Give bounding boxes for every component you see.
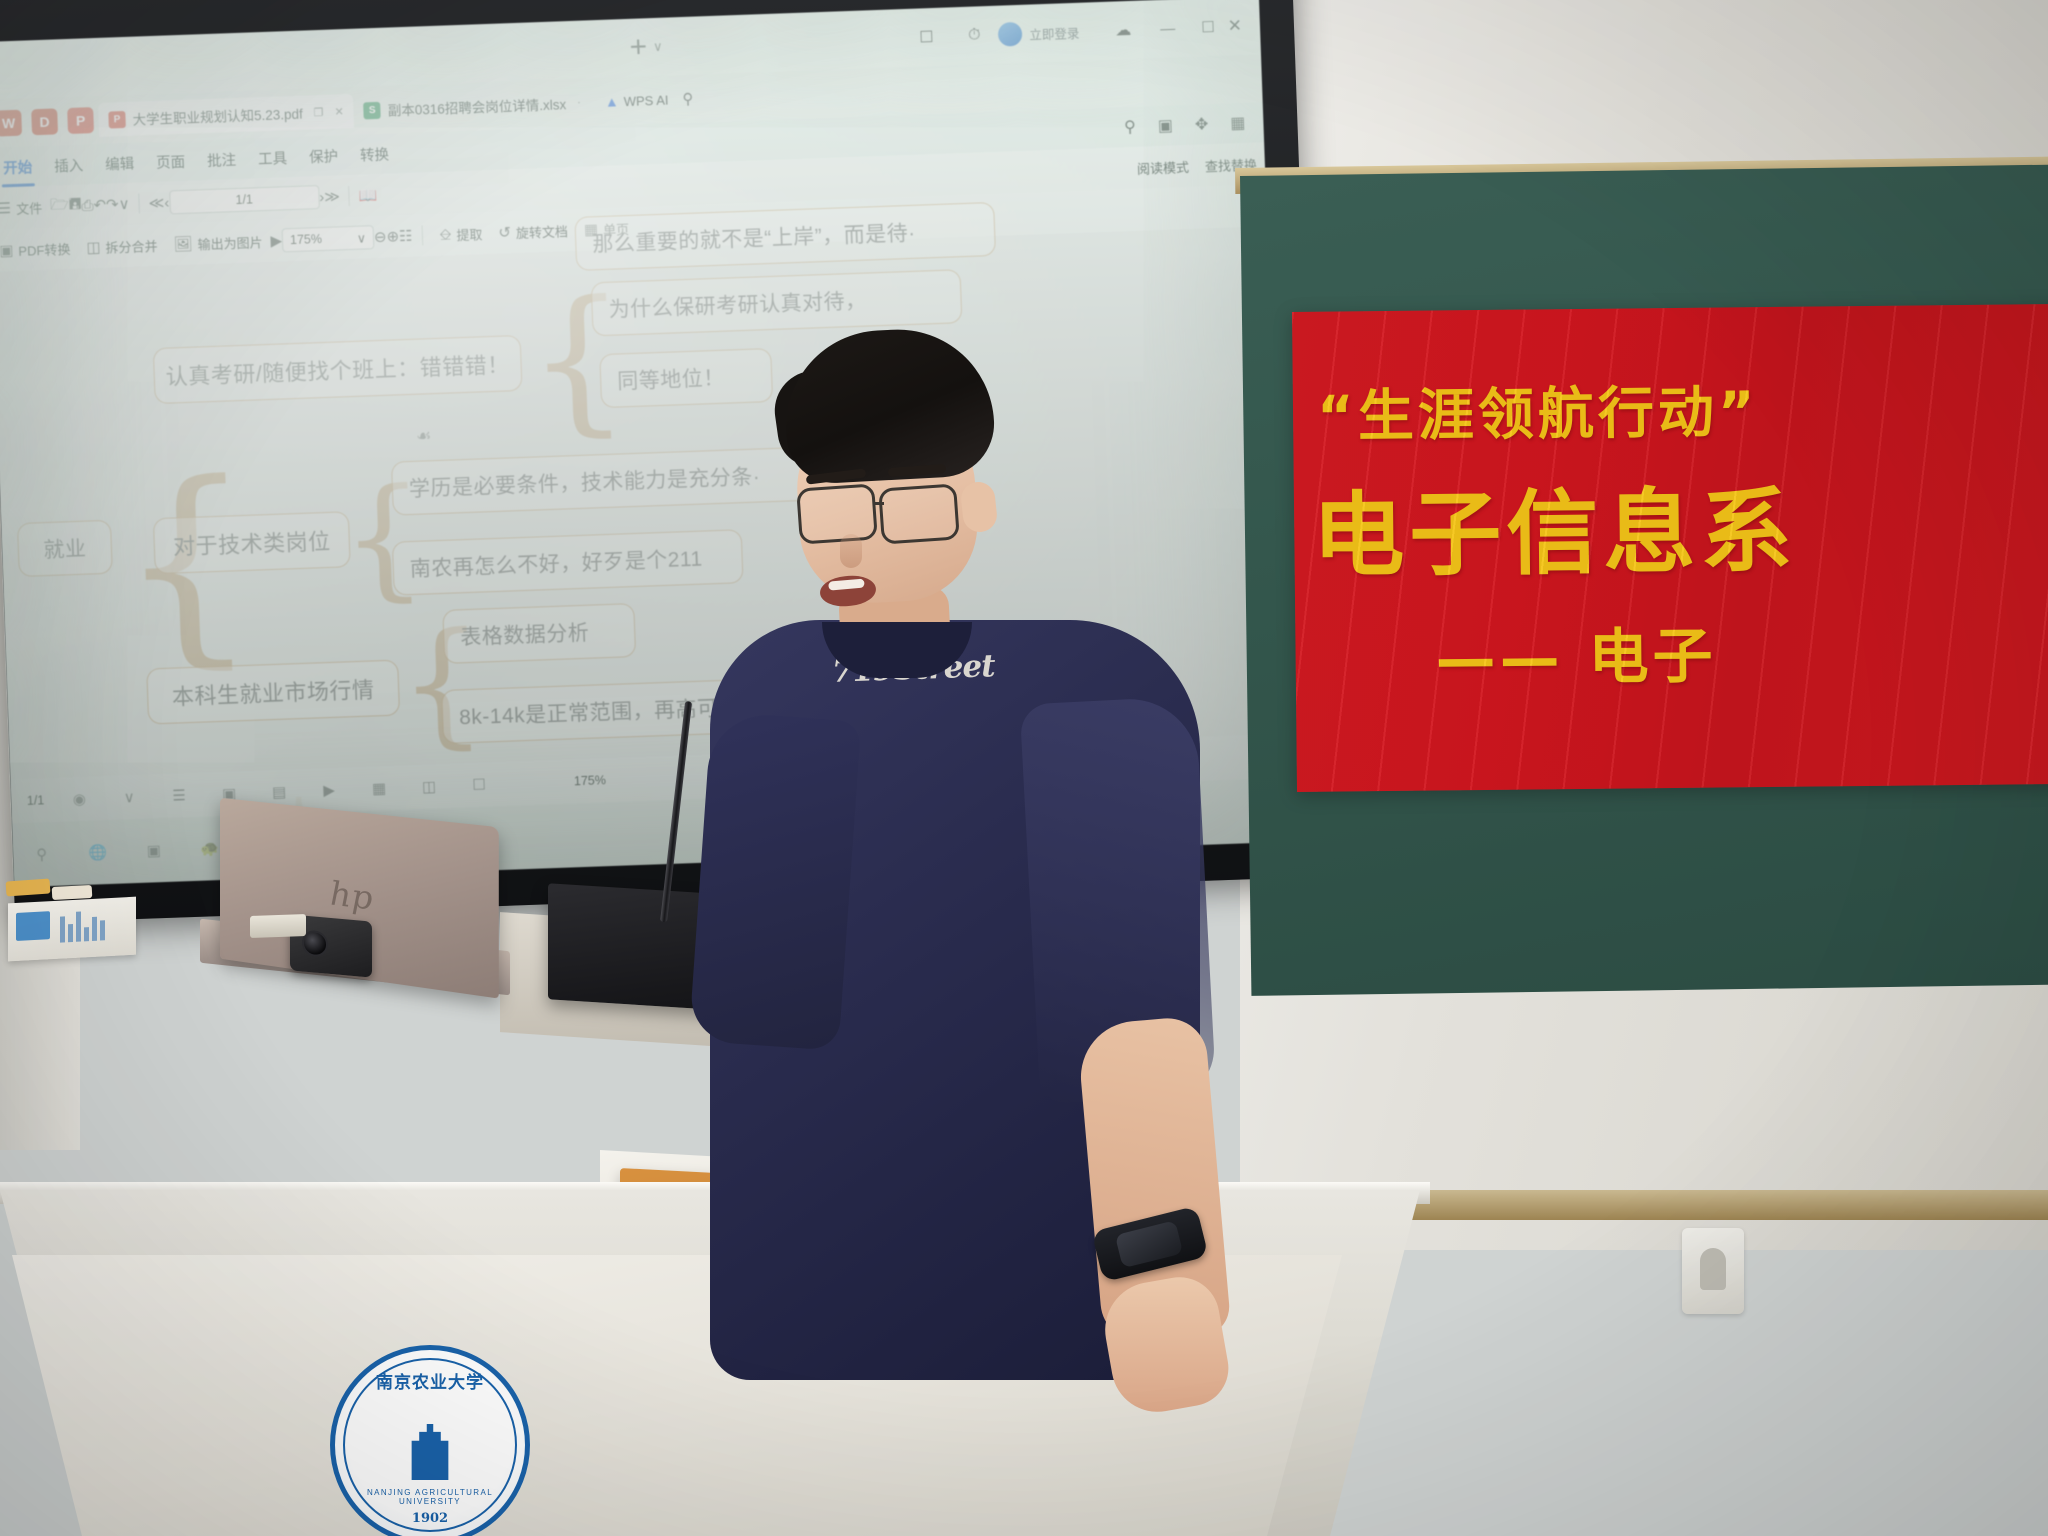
branch-2-brace: { [339,471,428,606]
snapshot-icon[interactable]: ▣ [1157,115,1173,136]
rotate-icon: ↺ [498,223,511,241]
mindmap-root-node[interactable]: 就业 [17,520,113,577]
play-icon[interactable]: ▶ [314,775,345,806]
presenter-left-sleeve [689,711,862,1051]
presenter: 719Street [690,320,1210,1536]
banner-line-1: “生涯领航行动” [1317,367,1759,453]
mindmap-leaf-1-1[interactable]: 那么重要的就不是“上岸”，而是待· [574,202,996,271]
split-merge-button[interactable]: ◫ 拆分合并 [78,235,166,257]
glasses-right-lens [878,483,960,544]
zoom-in-icon[interactable]: ⊕ [386,227,399,245]
browser-icon[interactable]: 🌐 [82,837,113,868]
single-page-label: 单页 [603,219,630,239]
socket-slot [1700,1248,1726,1290]
pdf-file-icon: P [108,110,126,128]
maximize-button[interactable]: ☐ [1201,18,1215,36]
hp-logo: hp [330,873,372,917]
nav-last-icon[interactable]: ≫ [324,187,340,206]
reading-mode-button[interactable]: 阅读模式 [1129,156,1198,177]
chalk-stick-yellow [6,878,51,896]
xls-file-icon: S [363,101,381,119]
menu-item-insert[interactable]: 插入 [45,152,93,179]
wps-ai-button[interactable]: ▲ WPS AI [605,92,669,110]
rotate-doc-label: 旋转文档 [516,221,569,242]
wps-icon[interactable]: ▣ [138,835,169,866]
menu-item-tools[interactable]: 工具 [249,144,297,171]
split-merge-icon: ◫ [86,238,101,256]
mindmap-branch-1[interactable]: 认真考研/随便找个班上：错错错！ [153,335,523,404]
account-area[interactable]: 立即登录 [998,20,1080,47]
tab-label: 大学生职业规划认知5.23.pdf [132,103,303,129]
wps-ai-label: WPS AI [623,92,668,109]
banner-line-2: 电子信息系 [1312,457,1798,595]
glasses-left-lens [796,483,878,544]
save-icon[interactable]: 🖪 [68,193,82,218]
pdf-convert-button[interactable]: ▣ PDF转换 [0,238,79,260]
event-banner: “生涯领航行动” 电子信息系 —— 电子 [1292,304,2048,792]
undo-icon[interactable]: ↶ [93,196,106,214]
play-icon[interactable]: ▶ [270,231,282,249]
menu-item-page[interactable]: 页面 [147,148,195,175]
extract-icon: ⎒ [439,226,451,243]
single-page-button[interactable]: ▦ 单页 [576,218,638,239]
chalk-stick-white [52,885,93,900]
wall-socket [1682,1228,1744,1314]
status-zoom-value[interactable]: 175% [574,773,606,788]
glasses-bridge [874,502,884,505]
banner-line-3: —— 电子 [1435,608,1717,698]
screenshot-root: + ∨ ☐ ⏱ 立即登录 ☁ — ☐ ✕ W D P P 大 [0,0,2048,1536]
new-tab-button[interactable]: + [629,30,648,65]
search-icon[interactable]: ⚲ [682,90,694,108]
extract-button[interactable]: ⎒ 提取 [431,223,490,244]
menu-item-edit[interactable]: 编辑 [96,150,144,177]
nav-first-icon[interactable]: ≪ [148,194,164,213]
export-image-icon: 🖼 [173,235,193,254]
wps-ribbon-row-1: ☰ 文件 🗁 🖪 ⎙ ↶ ↷ ∨ ≪ ‹ 1/1 › ≫ 📖 阅读模式 查找替 [0,142,1266,230]
file-menu-button[interactable]: ☰ 文件 [0,197,50,218]
minimize-button[interactable]: — [1160,20,1176,38]
emblem-year: 1902 [335,1511,525,1526]
zoom-out-icon[interactable]: ⊖ [374,228,387,246]
menu-item-start[interactable]: 开始 [0,154,42,181]
compare-icon[interactable]: ▦ [1230,113,1246,134]
layout-icon[interactable]: ▦ [364,773,395,804]
single-page-icon: ▦ [584,220,599,238]
tab-xlsx-document[interactable]: S 副本0316招聘会岗位详情.xlsx · [353,85,591,127]
cloud-icon[interactable]: ☁ [1110,17,1137,44]
wps-ribbon-row-2: ▣ PDF转换 ◫ 拆分合并 🖼 输出为图片 ▶ 175% ∨ ⊖ ⊕ [0,184,1267,272]
view-single-icon[interactable]: ◉ [64,784,95,815]
pdf-convert-label: PDF转换 [18,239,71,260]
tab-label: 副本0316招聘会岗位详情.xlsx [387,93,566,119]
account-label: 立即登录 [1029,22,1080,43]
menu-item-convert[interactable]: 转换 [351,141,399,168]
blackboard-eraser [250,914,306,938]
extract-label: 提取 [456,224,483,244]
split-merge-label: 拆分合并 [105,235,158,256]
emblem-chinese-name: 南京农业大学 [335,1368,525,1393]
chalk-box-label [16,911,50,941]
menu-item-protect[interactable]: 保护 [300,143,348,170]
crop-icon[interactable]: ◫ [413,771,444,802]
chalk-box [8,897,136,962]
chevron-down-icon: ∨ [357,230,367,245]
wps-writer-icon[interactable]: W [0,110,22,137]
search-icon[interactable]: ⚲ [26,839,57,870]
share-icon[interactable]: ✥ [1195,114,1209,134]
fullscreen-icon[interactable]: ☐ [463,769,494,800]
redo-icon[interactable]: ↷ [106,195,119,213]
open-icon[interactable]: 🗁 [50,194,69,220]
page-indicator[interactable]: 1/1 [169,185,320,214]
ai-spark-icon: ▲ [605,93,619,109]
mindmap-branch-3[interactable]: 本科生就业市场行情 [146,660,400,725]
chevron-down-icon[interactable]: ∨ [118,195,130,213]
close-icon[interactable]: ✕ [334,105,344,118]
branch-3-brace: { [397,614,488,753]
hamburger-icon: ☰ [0,199,11,217]
tab-pdf-document[interactable]: P 大学生职业规划认知5.23.pdf ❐ ✕ [98,94,354,137]
root-brace: { [115,453,259,673]
hand-cursor-icon: ☙ [416,426,433,447]
presenter-nose [840,534,862,568]
menu-item-annotate[interactable]: 批注 [198,146,246,173]
print-icon[interactable]: ⎙ [81,197,94,214]
emblem-english-name: NANJING AGRICULTURAL UNIVERSITY [335,1488,525,1506]
fit-page-icon[interactable]: ☷ [399,227,413,245]
wps-tab-strip: W D P P 大学生职业规划认知5.23.pdf ❐ ✕ S 副本0316招聘… [0,54,1263,148]
search-icon[interactable]: ⚲ [1124,117,1136,137]
zoom-selector[interactable]: 175% ∨ [282,225,375,252]
timer-icon[interactable]: ⏱ [961,22,988,49]
university-emblem: 南京农业大学 NANJING AGRICULTURAL UNIVERSITY 1… [330,1345,530,1536]
nav-next-icon[interactable]: › [319,188,325,205]
avatar [998,22,1023,47]
chalk-box-stripes [60,910,105,942]
presenter-hair [781,325,997,486]
select-icon[interactable]: ☰ [164,780,195,811]
pdf-convert-icon: ▣ [0,241,14,259]
export-image-button[interactable]: 🖼 输出为图片 [165,231,271,254]
wps-menu-bar: 开始 插入 编辑 页面 批注 工具 保护 转换 ⚲ ▣ ✥ ▦ [0,102,1264,188]
tab-list-caret-icon[interactable]: ∨ [653,39,663,55]
nav-prev-icon[interactable]: ‹ [164,194,170,211]
wps-titlebar: + ∨ ☐ ⏱ 立即登录 ☁ — ☐ ✕ [0,0,1261,100]
wps-doc-icon[interactable]: D [31,108,58,135]
file-label: 文件 [16,197,43,217]
mindmap-leaf-3-1[interactable]: 表格数据分析 [442,603,636,664]
tab-dot-icon: · [577,97,581,109]
status-page-indicator: 1/1 [27,793,45,808]
mindmap-branch-2[interactable]: 对于技术类岗位 [153,511,351,574]
chevron-down-icon[interactable]: ∨ [114,782,145,813]
export-image-label: 输出为图片 [197,232,263,253]
branch-1-brace: { [525,279,631,440]
close-button[interactable]: ✕ [1227,16,1242,36]
restore-icon[interactable]: ❐ [314,105,324,118]
book-mode-icon[interactable]: 📖 [359,186,378,205]
rotate-doc-button[interactable]: ↺ 旋转文档 [490,220,576,242]
wps-pdf-icon[interactable]: P [67,107,94,134]
clipboard-icon[interactable]: ☐ [913,24,940,51]
zoom-value: 175% [290,232,322,247]
